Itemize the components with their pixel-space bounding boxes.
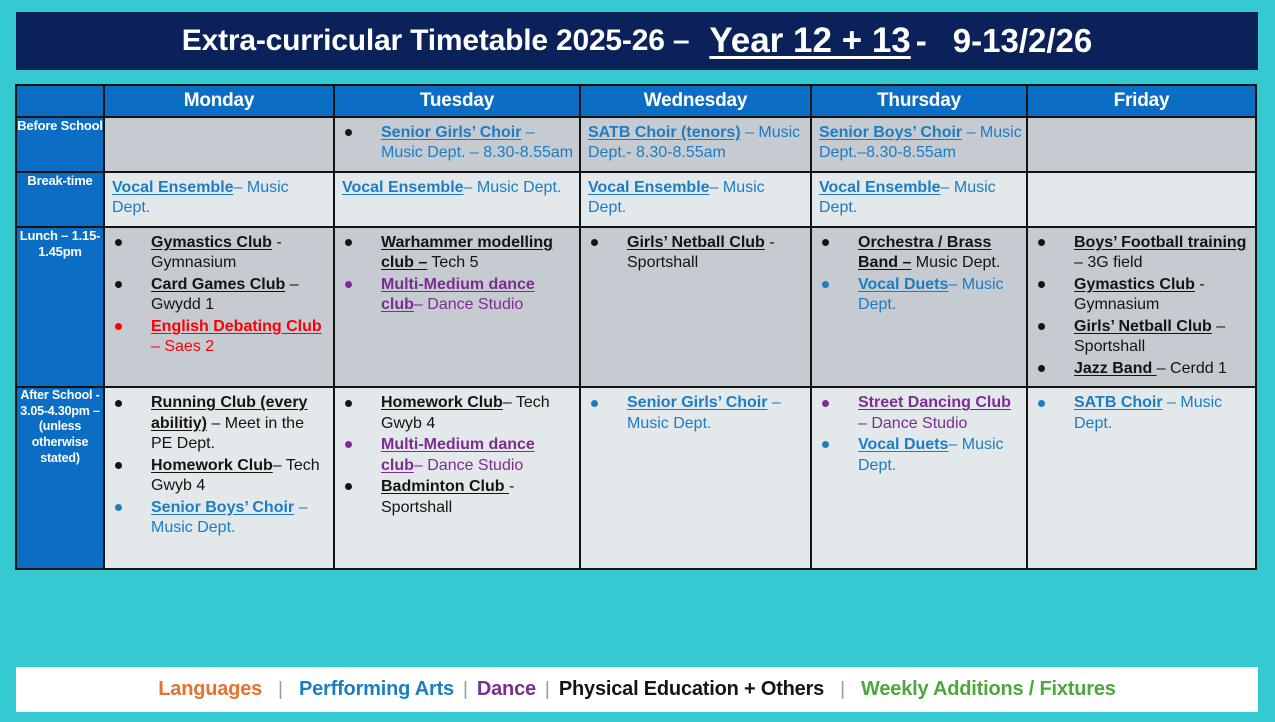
activity-name: Badminton Club [381,478,509,495]
activity-name: Homework Club [151,457,273,474]
timetable-header-row: Monday Tuesday Wednesday Thursday Friday [16,85,1256,117]
activity-item[interactable]: Running Club (every abilitiy) – Meet in … [109,393,329,454]
timetable-corner-cell [16,85,104,117]
activity-location: Music Dept. [911,254,1000,271]
activity-name: Vocal Duets [858,276,948,293]
bullet-icon [345,239,352,246]
bullet-icon [822,441,829,448]
activity-item[interactable]: Senior Boys’ Choir – Music Dept. [109,498,329,539]
day-header-wednesday: Wednesday [580,85,811,117]
activity-item[interactable]: SATB Choir – Music Dept. [1032,393,1251,434]
cell-content: Warhammer modelling club – Tech 5Multi-M… [335,228,579,323]
legend-item-weekly-additions-fixtures: Weekly Additions / Fixtures [861,678,1116,701]
timetable-row-after-school: After School - 3.05-4.30pm – (unless oth… [16,387,1256,569]
cell-content [105,118,333,129]
activity-list: Senior Boys’ Choir – Music Dept.–8.30-8.… [816,123,1022,164]
activity-item[interactable]: Card Games Club – Gwydd 1 [109,275,329,316]
cell-lunch-thursday: Orchestra / Brass Band – Music Dept.Voca… [811,227,1027,387]
cell-after-school-wednesday: Senior Girls’ Choir – Music Dept. [580,387,811,569]
cell-break-time-tuesday: Vocal Ensemble– Music Dept. [334,172,580,227]
activity-item[interactable]: Vocal Ensemble– Music Dept. [109,178,329,219]
activity-name: Vocal Ensemble [819,179,941,196]
activity-location: – 3G field [1074,254,1142,271]
day-header-tuesday: Tuesday [334,85,580,117]
activity-list: Running Club (every abilitiy) – Meet in … [109,393,329,538]
activity-list: SATB Choir (tenors) – Music Dept.- 8.30-… [585,123,806,164]
activity-item[interactable]: Vocal Duets– Music Dept. [816,275,1022,316]
legend-item-physical-education-others: Physical Education + Others [559,678,824,701]
timetable-row-lunch: Lunch – 1.15-1.45pmGymastics Club - Gymn… [16,227,1256,387]
activity-list: Vocal Ensemble– Music Dept. [109,178,329,219]
cell-content: Gymastics Club - GymnasiumCard Games Clu… [105,228,333,365]
cell-break-time-wednesday: Vocal Ensemble– Music Dept. [580,172,811,227]
cell-break-time-monday: Vocal Ensemble– Music Dept. [104,172,334,227]
activity-name: Vocal Ensemble [112,179,234,196]
cell-lunch-wednesday: Girls’ Netball Club - Sportshall [580,227,811,387]
bullet-icon [345,400,352,407]
cell-content: SATB Choir (tenors) – Music Dept.- 8.30-… [581,118,810,171]
cell-before-school-friday [1027,117,1256,172]
activity-list: Vocal Ensemble– Music Dept. [816,178,1022,219]
activity-list: Senior Girls’ Choir – Music Dept. [585,393,806,434]
activity-list: Vocal Ensemble– Music Dept. [585,178,806,219]
activity-list: SATB Choir – Music Dept. [1032,393,1251,434]
page-title-main: Extra-curricular Timetable 2025-26 – [182,24,690,58]
bullet-icon [591,400,598,407]
activity-item[interactable]: Gymastics Club - Gymnasium [109,233,329,274]
bullet-icon [822,400,829,407]
activity-item[interactable]: Girls’ Netball Club – Sportshall [1032,317,1251,358]
bullet-icon [1038,323,1045,330]
legend-separator: | [463,679,468,701]
bullet-icon [345,129,352,136]
activity-item[interactable]: Multi-Medium dance club– Dance Studio [339,435,575,476]
cell-before-school-monday [104,117,334,172]
legend-item-languages: Languages [158,678,262,701]
activity-item[interactable]: Girls’ Netball Club - Sportshall [585,233,806,274]
subject-legend: Languages|Perfforming Arts|Dance|Physica… [16,667,1258,712]
cell-content: Running Club (every abilitiy) – Meet in … [105,388,333,545]
bullet-icon [345,483,352,490]
bullet-icon [1038,239,1045,246]
activity-item[interactable]: Warhammer modelling club – Tech 5 [339,233,575,274]
activity-location: – Dance Studio [414,296,523,313]
activity-list: Gymastics Club - GymnasiumCard Games Clu… [109,233,329,358]
activity-location: – Dance Studio [414,457,523,474]
cell-content: Senior Boys’ Choir – Music Dept.–8.30-8.… [812,118,1026,171]
bullet-icon [115,462,122,469]
cell-content [1028,173,1255,184]
bullet-icon [115,323,122,330]
page-title-week-dates: 9-13/2/26 [953,22,1092,60]
cell-before-school-tuesday: Senior Girls’ Choir – Music Dept. – 8.30… [334,117,580,172]
activity-location: – Music Dept. [464,179,562,196]
page-title-bar: Extra-curricular Timetable 2025-26 – Yea… [16,12,1258,70]
activity-list: Orchestra / Brass Band – Music Dept.Voca… [816,233,1022,316]
page-title-dash: - [916,22,927,60]
bullet-icon [822,239,829,246]
cell-content: Senior Girls’ Choir – Music Dept. [581,388,810,441]
legend-item-dance: Dance [477,678,536,701]
cell-content: Vocal Ensemble– Music Dept. [105,173,333,226]
legend-separator: | [840,679,845,701]
activity-item[interactable]: Jazz Band – Cerdd 1 [1032,359,1251,379]
day-header-friday: Friday [1027,85,1256,117]
cell-after-school-friday: SATB Choir – Music Dept. [1027,387,1256,569]
timetable: Monday Tuesday Wednesday Thursday Friday… [15,84,1257,570]
cell-content: Girls’ Netball Club - Sportshall [581,228,810,281]
cell-content: Vocal Ensemble– Music Dept. [335,173,579,205]
page-title-year-group: Year 12 + 13 [709,21,910,61]
row-label-after-school: After School - 3.05-4.30pm – (unless oth… [16,387,104,569]
bullet-icon [115,504,122,511]
bullet-icon [345,441,352,448]
cell-content: SATB Choir – Music Dept. [1028,388,1255,441]
activity-item[interactable]: Badminton Club - Sportshall [339,477,575,518]
activity-name: Senior Boys’ Choir [819,124,962,141]
activity-list: Girls’ Netball Club - Sportshall [585,233,806,274]
activity-location: – Dance Studio [858,415,967,432]
cell-after-school-monday: Running Club (every abilitiy) – Meet in … [104,387,334,569]
cell-content [1028,118,1255,129]
cell-before-school-wednesday: SATB Choir (tenors) – Music Dept.- 8.30-… [580,117,811,172]
cell-content: Vocal Ensemble– Music Dept. [812,173,1026,226]
legend-separator: | [278,679,283,701]
activity-item[interactable]: Homework Club– Tech Gwyb 4 [109,456,329,497]
activity-name: Gymastics Club [1074,276,1195,293]
activity-name: Girls’ Netball Club [627,234,765,251]
activity-location: – Cerdd 1 [1157,360,1227,377]
activity-name: SATB Choir [1074,394,1163,411]
row-label-lunch: Lunch – 1.15-1.45pm [16,227,104,387]
timetable-body: Before SchoolSenior Girls’ Choir – Music… [16,117,1256,569]
cell-content: Street Dancing Club – Dance StudioVocal … [812,388,1026,483]
legend-item-perfforming-arts: Perfforming Arts [299,678,454,701]
activity-name: Street Dancing Club [858,394,1011,411]
activity-name: Girls’ Netball Club [1074,318,1212,335]
cell-content: Boys’ Football training – 3G fieldGymast… [1028,228,1255,386]
activity-list: Senior Girls’ Choir – Music Dept. – 8.30… [339,123,575,164]
cell-lunch-friday: Boys’ Football training – 3G fieldGymast… [1027,227,1256,387]
legend-separator: | [545,679,550,701]
activity-name: Vocal Ensemble [342,179,464,196]
activity-name: Vocal Duets [858,436,948,453]
activity-location: Tech 5 [427,254,478,271]
activity-item[interactable]: Senior Girls’ Choir – Music Dept. – 8.30… [339,123,575,164]
cell-content: Senior Girls’ Choir – Music Dept. – 8.30… [335,118,579,171]
bullet-icon [1038,281,1045,288]
row-label-before-school: Before School [16,117,104,172]
activity-name: Senior Girls’ Choir [381,124,521,141]
bullet-icon [591,239,598,246]
activity-item[interactable]: SATB Choir (tenors) – Music Dept.- 8.30-… [585,123,806,164]
bullet-icon [345,281,352,288]
activity-list: Street Dancing Club – Dance StudioVocal … [816,393,1022,476]
cell-lunch-tuesday: Warhammer modelling club – Tech 5Multi-M… [334,227,580,387]
activity-item[interactable]: Homework Club– Tech Gwyb 4 [339,393,575,434]
bullet-icon [115,400,122,407]
bullet-icon [115,281,122,288]
activity-item[interactable]: Multi-Medium dance club– Dance Studio [339,275,575,316]
activity-item[interactable]: Street Dancing Club – Dance Studio [816,393,1022,434]
activity-name: Gymastics Club [151,234,272,251]
cell-content: Homework Club– Tech Gwyb 4Multi-Medium d… [335,388,579,525]
cell-after-school-thursday: Street Dancing Club – Dance StudioVocal … [811,387,1027,569]
bullet-icon [1038,365,1045,372]
activity-item[interactable]: Vocal Duets– Music Dept. [816,435,1022,476]
activity-item[interactable]: Vocal Ensemble– Music Dept. [816,178,1022,219]
activity-list: Vocal Ensemble– Music Dept. [339,178,575,198]
activity-item[interactable]: Orchestra / Brass Band – Music Dept. [816,233,1022,274]
cell-after-school-tuesday: Homework Club– Tech Gwyb 4Multi-Medium d… [334,387,580,569]
activity-item[interactable]: English Debating Club – Saes 2 [109,317,329,358]
cell-content: Orchestra / Brass Band – Music Dept.Voca… [812,228,1026,323]
activity-name: English Debating Club [151,318,322,335]
activity-name: Homework Club [381,394,503,411]
activity-list: Boys’ Football training – 3G fieldGymast… [1032,233,1251,379]
cell-break-time-friday [1027,172,1256,227]
cell-break-time-thursday: Vocal Ensemble– Music Dept. [811,172,1027,227]
cell-lunch-monday: Gymastics Club - GymnasiumCard Games Clu… [104,227,334,387]
day-header-monday: Monday [104,85,334,117]
cell-before-school-thursday: Senior Boys’ Choir – Music Dept.–8.30-8.… [811,117,1027,172]
row-label-break-time: Break-time [16,172,104,227]
activity-name: SATB Choir (tenors) [588,124,741,141]
cell-content: Vocal Ensemble– Music Dept. [581,173,810,226]
day-header-thursday: Thursday [811,85,1027,117]
activity-name: Senior Girls’ Choir [627,394,767,411]
bullet-icon [1038,400,1045,407]
activity-item[interactable]: Senior Girls’ Choir – Music Dept. [585,393,806,434]
activity-location: – Saes 2 [151,338,214,355]
activity-name: Card Games Club [151,276,285,293]
activity-name: Boys’ Football training [1074,234,1246,251]
activity-item[interactable]: Vocal Ensemble– Music Dept. [339,178,575,198]
timetable-row-before-school: Before SchoolSenior Girls’ Choir – Music… [16,117,1256,172]
bullet-icon [115,239,122,246]
activity-item[interactable]: Senior Boys’ Choir – Music Dept.–8.30-8.… [816,123,1022,164]
activity-list: Homework Club– Tech Gwyb 4Multi-Medium d… [339,393,575,518]
activity-name: Vocal Ensemble [588,179,710,196]
activity-item[interactable]: Boys’ Football training – 3G field [1032,233,1251,274]
bullet-icon [822,281,829,288]
activity-list: Warhammer modelling club – Tech 5Multi-M… [339,233,575,316]
activity-item[interactable]: Gymastics Club - Gymnasium [1032,275,1251,316]
activity-name: Jazz Band [1074,360,1157,377]
activity-item[interactable]: Vocal Ensemble– Music Dept. [585,178,806,219]
timetable-row-break-time: Break-timeVocal Ensemble– Music Dept.Voc… [16,172,1256,227]
activity-name: Senior Boys’ Choir [151,499,294,516]
